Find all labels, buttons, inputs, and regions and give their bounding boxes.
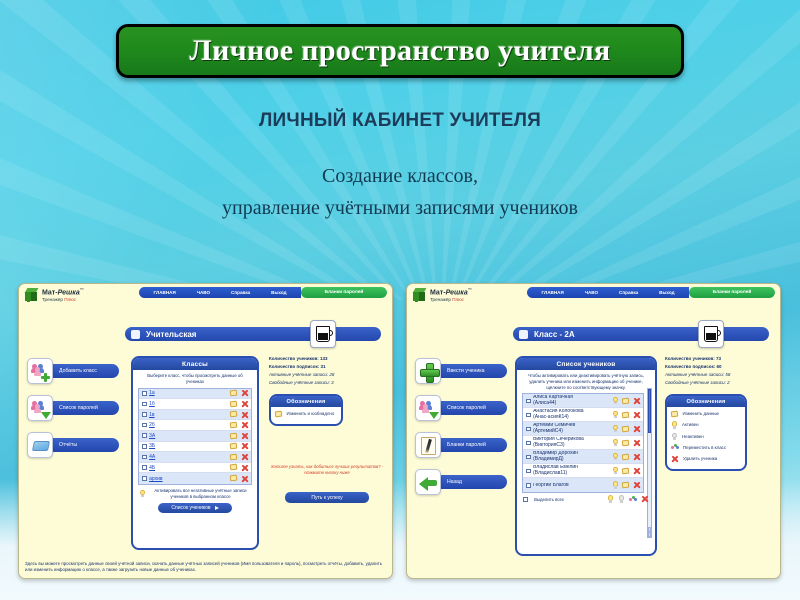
download-arrow-icon [41,412,51,419]
row-actions [612,425,642,433]
password-list-icon [27,395,53,421]
scroll-down-arrow-icon[interactable] [648,532,651,537]
sidebar-item-back-label: Назад [447,479,462,485]
classes-card-title: Классы [133,358,257,370]
student-name[interactable]: Виктория Сечерикова(ВикторияС3) [533,437,611,449]
note-icon[interactable] [622,467,630,475]
row-checkbox[interactable] [526,399,531,404]
note-icon[interactable] [230,421,238,429]
row-actions [230,400,249,408]
app-right-brand-subtitle: Тренажёр Плюс [430,297,472,302]
students-card-footer: Выделить всех [517,493,655,505]
sidebar-item-reports[interactable]: Отчёты [25,430,121,461]
note-icon [275,410,283,418]
nav-item-faq[interactable]: ЧАВО [197,290,210,295]
stat-line: Свободные учётные записи: 2 [665,379,781,387]
table-row[interactable]: 1а [139,389,251,400]
delete-icon[interactable] [641,495,649,503]
class-link[interactable]: 4Б [149,465,230,471]
delete-icon[interactable] [241,475,249,483]
row-checkbox[interactable] [526,469,531,474]
row-checkbox[interactable] [526,483,531,488]
delete-icon[interactable] [241,453,249,461]
stat-line: Количество учеников: 133 [269,355,389,363]
row-checkbox[interactable] [142,455,147,460]
logo-cube-icon [25,288,39,302]
row-actions [230,442,249,450]
student-name[interactable]: Владимир Дорохин(ВладимирД) [533,451,611,463]
app-screenshot-teacher-room: Мат-Решка™ Тренажёр Плюс ГЛАВНАЯ ЧАВО Сп… [18,283,393,579]
app-right-sidebar: Ввести ученика Список паролей Бланки пар… [413,356,509,504]
stat-line: Активные учётные записи: 58 [665,371,781,379]
legend-title: Обозначения [271,396,341,407]
app-left-page-title-bar: Учительская [125,327,381,341]
stat-line: Количество подписок: 31 [269,363,389,371]
legend-item: Удалить ученика [671,455,741,463]
slide-title-banner: Личное пространство учителя [116,24,684,78]
app-left-hint-text: Хотите узнать, как добиться лучших резул… [267,464,387,477]
bulb-on-icon [139,490,146,498]
app-right-brand: Мат-Решка™ Тренажёр Плюс [413,288,472,303]
students-card: Список учеников Чтобы активировать или д… [515,356,657,556]
nav-item-home[interactable]: ГЛАВНАЯ [153,290,175,295]
note-icon[interactable] [230,464,238,472]
note-icon [671,410,679,418]
app-left-stats: Количество учеников: 133Количество подпи… [269,355,389,387]
row-actions [612,439,642,447]
legend-items: Изменить и юобнадлно [271,407,341,424]
add-student-icon [415,358,441,384]
classes-card-note: Выберите класс, чтобы просмотреть данные… [133,370,257,388]
bulb-on-icon[interactable] [612,481,619,489]
row-checkbox[interactable] [526,455,531,460]
delete-icon[interactable] [241,389,249,397]
bulb-off-icon [671,433,678,441]
student-name[interactable]: Артемий Семичев(АртемийС4) [533,423,611,435]
back-arrow-icon [415,469,441,495]
legend-item-label: Изменить данные [683,411,719,416]
legend-item: Переместить в класс [671,444,741,451]
table-row[interactable]: Анастасия Колобкова(Анас-асияК14) [523,408,643,422]
delete-icon[interactable] [633,425,641,433]
sidebar-item-back[interactable]: Назад [413,467,509,498]
slide-heading: ЛИЧНЫЙ КАБИНЕТ УЧИТЕЛЯ [0,110,800,132]
mug-badge-icon [698,320,724,348]
add-class-icon [27,358,53,384]
classes-card-footer: Активировать все негативные учётные запи… [133,485,257,501]
app-left-footer-note: Здесь вы можете просмотреть данные своей… [25,561,386,574]
note-icon[interactable] [230,453,238,461]
bulb-on-icon[interactable] [607,495,614,503]
classes-card-foot-note: Активировать все негативные учётные запи… [150,488,251,499]
chevron-right-icon [215,506,219,510]
row-actions [230,411,249,419]
path-to-success-button[interactable]: Путь к успеху [285,492,369,503]
legend-item: Неактивен [671,433,741,441]
class-link[interactable]: архив [149,476,230,482]
class-link[interactable]: 4А [149,454,230,460]
page-title-square-icon [519,330,528,339]
legend-item: Активен [671,421,741,429]
row-checkbox[interactable] [142,402,147,407]
legend-item: Изменить и юобнадлно [275,410,337,418]
app-right-brand-name: Мат-Решка™ [430,288,472,297]
sidebar-item-password-forms-label: Бланки паролей [447,442,486,448]
stat-line: Количество учеников: 73 [665,355,781,363]
bulb-on-icon[interactable] [612,439,619,447]
note-icon[interactable] [230,400,238,408]
class-link[interactable]: 1б [149,401,230,407]
app-left-sidebar: Добавить класс Список паролей [25,356,121,467]
page-title-square-icon [131,330,140,339]
row-checkbox[interactable] [526,441,531,446]
app-left-navbar[interactable]: ГЛАВНАЯ ЧАВО Справка Выход Бланки пароле… [139,287,387,298]
row-actions [230,464,249,472]
app-left-page-title: Учительская [146,330,196,339]
legend-item-label: Активен [682,422,699,427]
bulb-on-icon[interactable] [612,425,619,433]
select-all-label: Выделить всех [534,497,564,503]
move-icon[interactable] [629,496,637,503]
password-forms-icon [415,432,441,458]
mug-badge-icon [310,320,336,348]
table-row[interactable]: Владимир Дорохин(ВладимирД) [523,450,643,464]
delete-icon[interactable] [241,464,249,472]
note-icon[interactable] [230,475,238,483]
app-right-page-title-bar: Класс - 2А [513,327,769,341]
delete-icon[interactable] [241,442,249,450]
table-row[interactable]: Виктория Сечерикова(ВикторияС3) [523,436,643,450]
move-icon [671,444,679,451]
legend-title: Обозначения [667,396,745,407]
row-checkbox[interactable] [142,465,147,470]
delete-icon[interactable] [241,421,249,429]
class-link[interactable]: 2б [149,422,230,428]
table-row[interactable]: Артемий Семичев(АртемийС4) [523,422,643,436]
row-actions [612,453,642,461]
app-right-legend: Обозначения Изменить данныеАктивенНеакти… [665,394,747,471]
sidebar-item-add-class-label: Добавить класс [59,368,97,374]
table-row[interactable]: 3А [139,431,251,442]
row-checkbox[interactable] [142,476,147,481]
table-row[interactable]: 1в [139,410,251,421]
bulb-on-icon[interactable] [612,453,619,461]
note-icon[interactable] [622,453,630,461]
class-link[interactable]: 1а [149,390,230,396]
delete-icon[interactable] [241,432,249,440]
table-row[interactable]: 3Б [139,442,251,453]
row-actions [612,411,642,419]
slide-subtitle-line1: Создание классов, [0,160,800,192]
stat-line: Активные учётные записи: 28 [269,371,389,379]
table-row[interactable]: 1б [139,399,251,410]
app-left-brand: Мат-Решка™ Тренажёр Плюс [25,288,84,303]
delete-icon[interactable] [633,467,641,475]
nav-item-logout[interactable]: Выход [659,290,674,295]
app-right-navbar[interactable]: ГЛАВНАЯ ЧАВО Справка Выход Бланки пароле… [527,287,775,298]
nav-item-help[interactable]: Справка [619,290,638,295]
sidebar-item-password-list-label: Список паролей [447,405,486,411]
table-row[interactable]: 4А [139,452,251,463]
delete-icon [671,455,679,463]
note-icon[interactable] [230,443,238,451]
delete-icon[interactable] [633,397,641,405]
app-left-brand-subtitle: Тренажёр Плюс [42,297,84,302]
bulb-on-icon[interactable] [612,411,619,419]
row-checkbox[interactable] [142,391,147,396]
students-scrollbar[interactable] [647,388,652,538]
sidebar-item-password-list[interactable]: Список паролей [25,393,121,424]
row-actions [612,467,642,475]
reports-icon [27,432,53,458]
app-left-topbar: Мат-Решка™ Тренажёр Плюс ГЛАВНАЯ ЧАВО Сп… [19,284,392,310]
legend-item-label: Переместить в класс [683,445,726,450]
class-link[interactable]: 3А [149,433,230,439]
table-row[interactable]: 2б [139,420,251,431]
slide-subtitle-line2: управление учётными записями учеников [0,192,800,224]
row-actions [230,453,249,461]
table-row[interactable]: Алиса Картачная(Алиса44) [523,394,643,408]
student-name[interactable]: Георгий Благов [533,483,611,489]
sidebar-item-reports-label: Отчёты [59,442,77,448]
sidebar-item-password-list[interactable]: Список паролей [413,393,509,424]
classes-row-list: 1а1б1в2б3А3Б4А4Бархив [138,388,252,485]
row-checkbox[interactable] [142,412,147,417]
app-right-stats: Количество учеников: 73Количество подпис… [665,355,781,387]
student-list-button[interactable]: Список учеников [158,503,232,513]
stat-line: Свободные учётные записи: 3 [269,379,389,387]
row-actions [612,397,642,405]
note-icon[interactable] [622,439,630,447]
delete-icon[interactable] [241,400,249,408]
note-icon[interactable] [230,432,238,440]
row-actions [230,421,249,429]
nav-item-logout[interactable]: Выход [271,290,286,295]
students-card-note: Чтобы активировать или деактивировать уч… [517,370,655,393]
delete-icon[interactable] [241,411,249,419]
legend-item: Изменить данные [671,410,741,418]
sidebar-item-password-list-label: Список паролей [59,405,98,411]
nav-cta-password-forms[interactable]: Бланки паролей [301,287,387,298]
students-scrollbar-thumb[interactable] [648,389,651,433]
nav-item-help[interactable]: Справка [231,290,250,295]
students-row-list: Алиса Картачная(Алиса44)Анастасия Колобк… [522,393,644,493]
classes-card: Классы Выберите класс, чтобы просмотреть… [131,356,259,550]
note-icon[interactable] [622,397,630,405]
password-list-icon [415,395,441,421]
delete-icon[interactable] [633,453,641,461]
select-all-checkbox[interactable] [523,497,528,502]
row-actions [612,481,642,489]
note-icon[interactable] [230,411,238,419]
legend-item-label: Изменить и юобнадлно [287,411,335,416]
row-actions [230,475,249,483]
row-checkbox[interactable] [142,423,147,428]
student-name[interactable]: Алиса Картачная(Алиса44) [533,395,611,407]
sidebar-item-password-forms[interactable]: Бланки паролей [413,430,509,461]
nav-cta-password-forms[interactable]: Бланки паролей [689,287,775,298]
app-screenshot-class-2a: Мат-Решка™ Тренажёр Плюс ГЛАВНАЯ ЧАВО Сп… [406,283,781,579]
note-icon[interactable] [622,425,630,433]
delete-icon[interactable] [633,481,641,489]
table-row[interactable]: Георгий Благов [523,478,643,492]
table-row[interactable]: 4Б [139,463,251,474]
sidebar-item-add-student[interactable]: Ввести ученика [413,356,509,387]
row-checkbox[interactable] [142,444,147,449]
legend-item-label: Удалить ученика [683,456,717,461]
bulb-off-icon[interactable] [618,495,625,503]
app-left-brand-name: Мат-Решка™ [42,288,84,297]
class-link[interactable]: 3Б [149,443,230,449]
table-row[interactable]: архив [139,473,251,484]
delete-icon[interactable] [633,411,641,419]
logo-cube-icon [413,288,427,302]
download-arrow-icon [429,412,439,419]
table-row[interactable]: Владислав Емелин(Владислав11) [523,464,643,478]
app-right-topbar: Мат-Решка™ Тренажёр Плюс ГЛАВНАЯ ЧАВО Сп… [407,284,780,310]
class-link[interactable]: 1в [149,412,230,418]
students-card-title: Список учеников [517,358,655,370]
row-checkbox[interactable] [142,433,147,438]
student-name[interactable]: Владислав Емелин(Владислав11) [533,465,611,477]
nav-item-home[interactable]: ГЛАВНАЯ [541,290,563,295]
app-left-legend: Обозначения Изменить и юобнадлно [269,394,343,426]
bulb-on-icon[interactable] [612,467,619,475]
slide-subtitle: Создание классов, управление учётными за… [0,160,800,224]
row-checkbox[interactable] [526,427,531,432]
row-actions [230,389,249,397]
plus-badge-icon [41,373,50,382]
bulb-on-icon [671,421,678,429]
legend-item-label: Неактивен [682,434,704,439]
note-icon[interactable] [230,390,238,398]
bulb-on-icon[interactable] [612,397,619,405]
sidebar-item-add-student-label: Ввести ученика [447,368,485,374]
app-right-page-title: Класс - 2А [534,330,575,339]
row-actions [230,432,249,440]
legend-items: Изменить данныеАктивенНеактивенПеремести… [667,407,745,469]
note-icon[interactable] [622,411,630,419]
student-name[interactable]: Анастасия Колобкова(Анас-асияК14) [533,409,611,421]
row-checkbox[interactable] [526,413,531,418]
note-icon[interactable] [622,482,630,490]
nav-item-faq[interactable]: ЧАВО [585,290,598,295]
slide-title-text: Личное пространство учителя [190,34,611,68]
stat-line: Количество подписок: 60 [665,363,781,371]
delete-icon[interactable] [633,439,641,447]
sidebar-item-add-class[interactable]: Добавить класс [25,356,121,387]
